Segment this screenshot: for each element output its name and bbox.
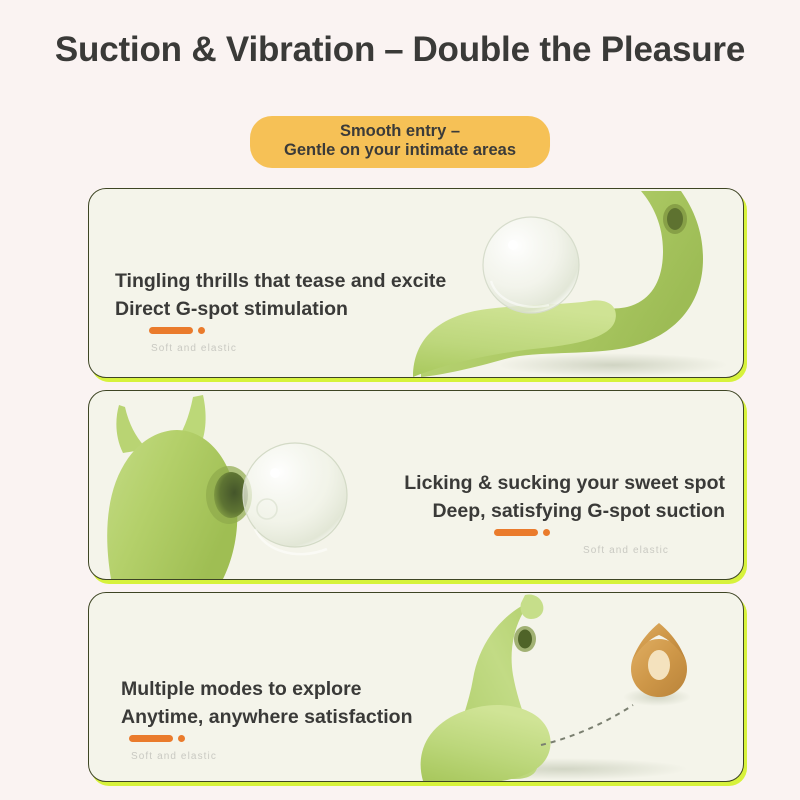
card-2-caption: Soft and elastic (404, 545, 725, 556)
product-image-curved-with-glass-sphere (413, 189, 743, 377)
accent-dot-icon (178, 735, 185, 742)
card-3-text-block: Multiple modes to explore Anytime, anywh… (121, 675, 413, 762)
accent-bar-icon (129, 735, 173, 742)
product-image-full-with-remote (413, 593, 743, 781)
card-1-text-block: Tingling thrills that tease and excite D… (115, 267, 446, 354)
accent-dot-icon (543, 529, 550, 536)
card-3-line-1: Multiple modes to explore (121, 675, 413, 703)
accent-dot-icon (198, 327, 205, 334)
badge-line-2: Gentle on your intimate areas (284, 141, 516, 160)
card-1-line-1: Tingling thrills that tease and excite (115, 267, 446, 295)
card-3-caption: Soft and elastic (121, 751, 413, 762)
card-2-line-1: Licking & sucking your sweet spot (404, 469, 725, 497)
feature-card-1: Tingling thrills that tease and excite D… (88, 188, 744, 378)
feature-card-3: Multiple modes to explore Anytime, anywh… (88, 592, 744, 782)
card-3-accent (121, 735, 413, 742)
card-1-line-2: Direct G-spot stimulation (115, 295, 446, 323)
feature-card-2: Licking & sucking your sweet spot Deep, … (88, 390, 744, 580)
badge-line-1: Smooth entry – (284, 122, 516, 141)
card-2-accent (404, 529, 725, 536)
product-image-suction-head-with-bubble (89, 391, 419, 579)
accent-bar-icon (494, 529, 538, 536)
page-title-part2: Double the Pleasure (412, 30, 745, 69)
card-3-line-2: Anytime, anywhere satisfaction (121, 703, 413, 731)
card-1-accent (115, 327, 446, 334)
page-title-part1: Suction & Vibration (55, 30, 375, 69)
card-2-text-block: Licking & sucking your sweet spot Deep, … (404, 469, 725, 556)
smooth-entry-badge: Smooth entry – Gentle on your intimate a… (250, 116, 550, 168)
card-2-line-2: Deep, satisfying G-spot suction (404, 497, 725, 525)
accent-bar-icon (149, 327, 193, 334)
page-title-dash: – (375, 30, 412, 70)
page-title: Suction & Vibration–Double the Pleasure (0, 30, 800, 70)
card-1-caption: Soft and elastic (115, 343, 446, 354)
